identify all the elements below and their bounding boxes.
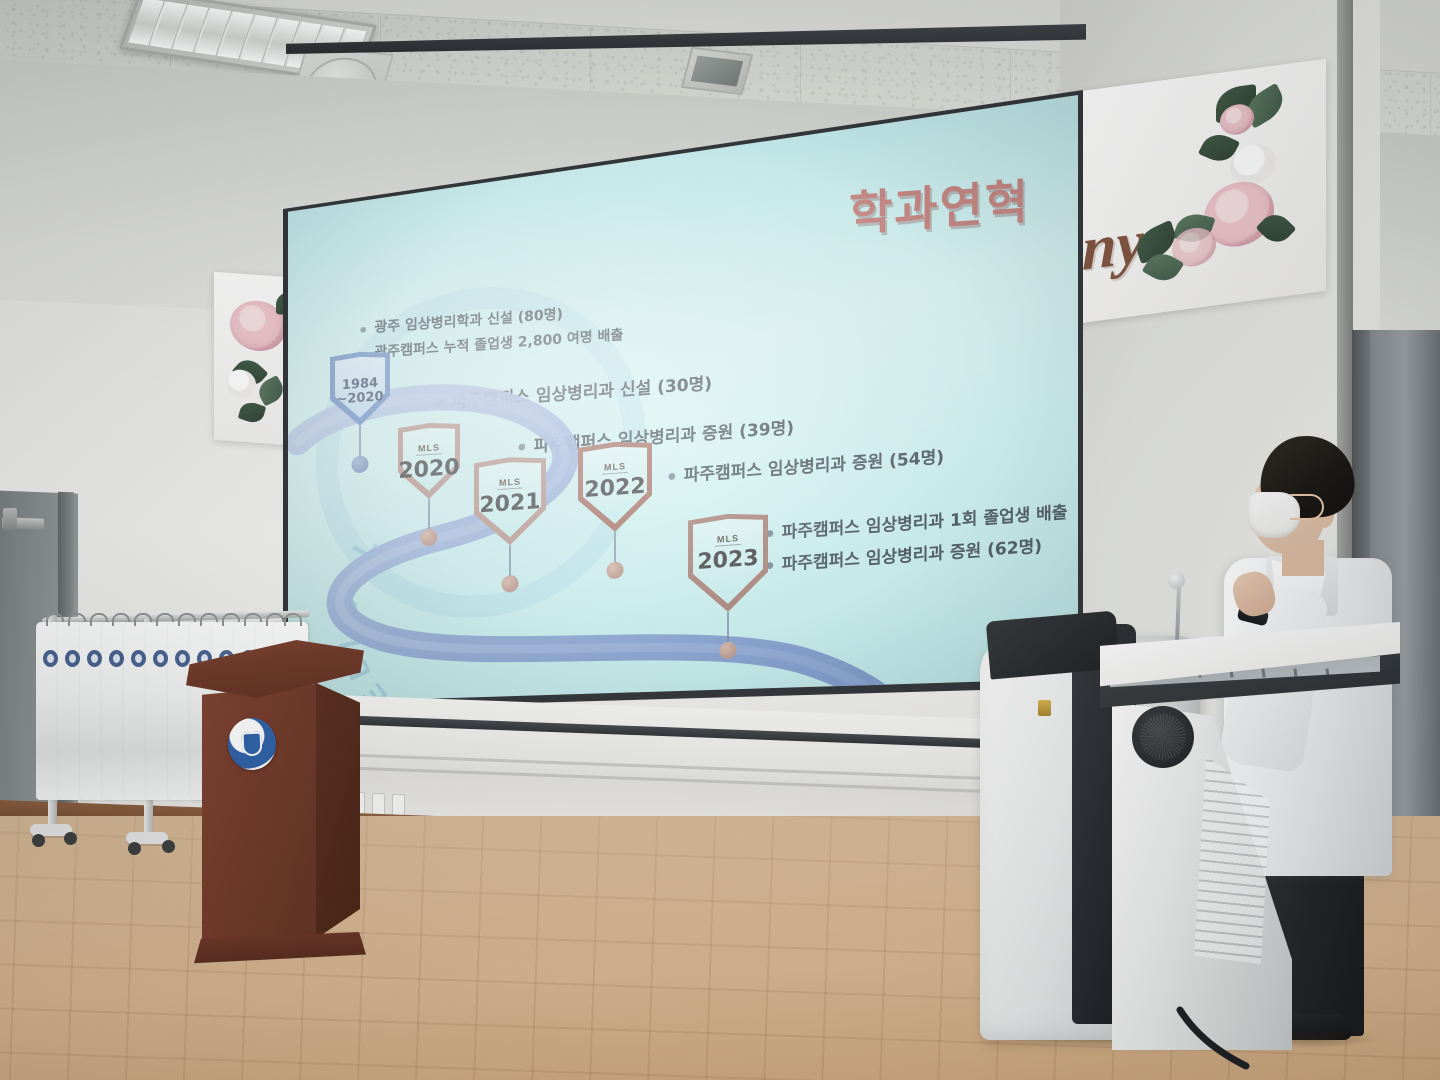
lectern-ribbed-panel	[1194, 756, 1270, 964]
rack-caster	[32, 834, 45, 847]
lectern-brand-badge	[1038, 700, 1051, 716]
screen-surface: M E D I C A L 학과연혁 광주 임상병리학과 신설 (80명) 광주…	[288, 95, 1078, 703]
mask-ear-loop	[1290, 494, 1324, 520]
projector-glow	[288, 95, 1078, 703]
podium-top-surface	[186, 640, 364, 698]
door-closer-body	[3, 508, 17, 530]
rack-caster	[128, 842, 141, 855]
ceiling-speaker	[681, 47, 754, 96]
banner-word: ny	[1082, 207, 1144, 286]
leaf-icon	[238, 399, 266, 426]
floral-banner-right: ny	[1064, 59, 1326, 325]
lectern-speaker-grille	[1132, 706, 1194, 768]
lecture-hall-scene: ny M E D I C A L	[0, 0, 1440, 1080]
wooden-podium	[186, 640, 364, 960]
rack-caster	[162, 840, 175, 853]
digital-lectern	[980, 606, 1400, 1046]
podium-side	[314, 682, 360, 940]
projection-screen: M E D I C A L 학과연혁 광주 임상병리학과 신설 (80명) 광주…	[283, 90, 1083, 710]
rack-caster	[64, 832, 77, 845]
lectern-cable	[1176, 1006, 1286, 1072]
microphone-icon[interactable]	[1168, 572, 1185, 589]
